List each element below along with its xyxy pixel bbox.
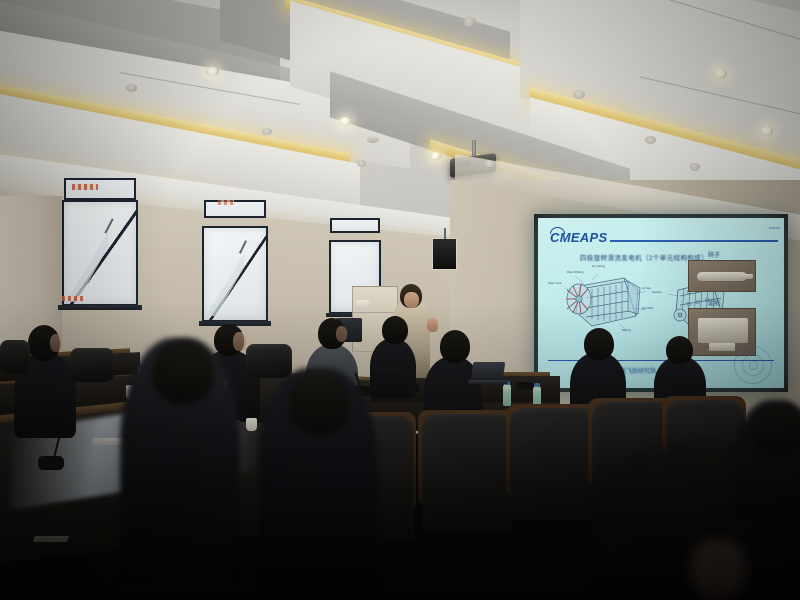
engine-label-6: Bearing: [622, 329, 631, 332]
window-1-open-pane: [66, 232, 108, 302]
stator-body-image: [698, 318, 748, 343]
downlight-2: [126, 84, 137, 92]
attendee-foreground-left-head: [152, 340, 214, 404]
attendee-foreground-mid-head: [288, 372, 350, 434]
attendee-left-1-face: [50, 334, 62, 352]
downlight-11: [645, 136, 656, 144]
window-2-open-pane: [206, 254, 244, 316]
chair-back-2[interactable]: [246, 344, 292, 378]
wall-pillar-1: [0, 196, 62, 346]
microphone-5[interactable]: [516, 382, 534, 390]
laptop-base: [468, 380, 508, 384]
caption-stator: 定机: [708, 298, 720, 307]
window-1-blind-stripe: [72, 184, 98, 190]
conference-room-photo: CMEAPS expert 四极旋转滑流发电机（2个单元结构构成）: [0, 0, 800, 600]
window-1-lower-stripe: [62, 296, 84, 301]
downlight-4: [262, 128, 272, 135]
attendee-right-3-head: [666, 336, 693, 364]
window-1-sill: [58, 305, 142, 310]
downlight-10: [760, 126, 773, 136]
attendee-foreground-right-face: [690, 540, 746, 600]
presenter-face: [404, 292, 419, 308]
chair-2[interactable]: [510, 408, 596, 520]
water-bottle-4-cap: [534, 383, 540, 387]
paper-3: [33, 536, 69, 542]
downlight-8: [713, 68, 727, 79]
water-bottle-3[interactable]: [503, 384, 511, 406]
projection-screen[interactable]: CMEAPS expert 四极旋转滑流发电机（2个单元结构构成）: [538, 218, 784, 388]
cabinet-seam: [352, 312, 398, 313]
slide-logo: CMEAPS: [550, 230, 607, 245]
paper-cup-3[interactable]: [246, 418, 257, 431]
microphone-3[interactable]: [402, 384, 420, 393]
engine-label-5: End Plate: [642, 307, 653, 310]
downlight-9: [573, 90, 585, 99]
smoke-detector-icon: [367, 134, 379, 143]
window-2-transom: [204, 200, 266, 218]
presenter-hand: [427, 318, 438, 332]
engine-cutaway-svg: [562, 268, 652, 336]
attendee-right-2-head: [584, 328, 614, 360]
engine-label-8: Housing: [652, 291, 662, 294]
engine-label-3: Stator Core: [548, 282, 561, 285]
downlight-7: [463, 17, 476, 27]
attendee-right-1-head: [440, 330, 470, 363]
window-3-transom: [330, 218, 380, 233]
wall-speaker: [432, 238, 457, 270]
engine-cutaway-diagram: Dry Casing Rotor Winding Stator Core Air…: [562, 268, 652, 336]
downlight-5: [430, 152, 441, 160]
attendee-front-center-head: [382, 316, 408, 344]
cabinet-papers: [356, 300, 369, 310]
downlight-12: [690, 163, 700, 171]
engine-label-2: Rotor Winding: [567, 271, 583, 274]
laptop[interactable]: [471, 362, 506, 381]
downlight-3: [339, 117, 351, 126]
slide-header-rule: [610, 240, 778, 242]
chair-back-3[interactable]: [0, 340, 30, 374]
wall-pillar-2: [130, 188, 202, 348]
slide-watermark-core: [749, 361, 758, 370]
rotor-shaft-image: [739, 274, 753, 279]
engine-label-1: Dry Casing: [592, 265, 605, 268]
attendee-hoodie-face: [336, 326, 347, 342]
window-1[interactable]: [62, 200, 138, 306]
downlight-1: [206, 67, 219, 76]
engine-label-4: Air Gap: [642, 287, 651, 290]
chair-1[interactable]: [422, 414, 512, 532]
caption-rotor: 转子: [708, 250, 720, 259]
slide-corner-mark: expert: [769, 225, 780, 230]
chair-back-1[interactable]: [70, 348, 114, 382]
stator-base-image: [709, 343, 735, 351]
attendee-foreground-far-right-head: [752, 404, 800, 456]
microphone-1[interactable]: [38, 456, 64, 470]
attendee-back-suit-face: [233, 332, 246, 351]
wall-speaker-bracket: [444, 228, 446, 239]
photo-inset-rotor: [688, 260, 756, 292]
window-2[interactable]: [202, 226, 268, 322]
downlight-6: [357, 160, 366, 167]
window-2-blind-stripe: [218, 200, 234, 205]
